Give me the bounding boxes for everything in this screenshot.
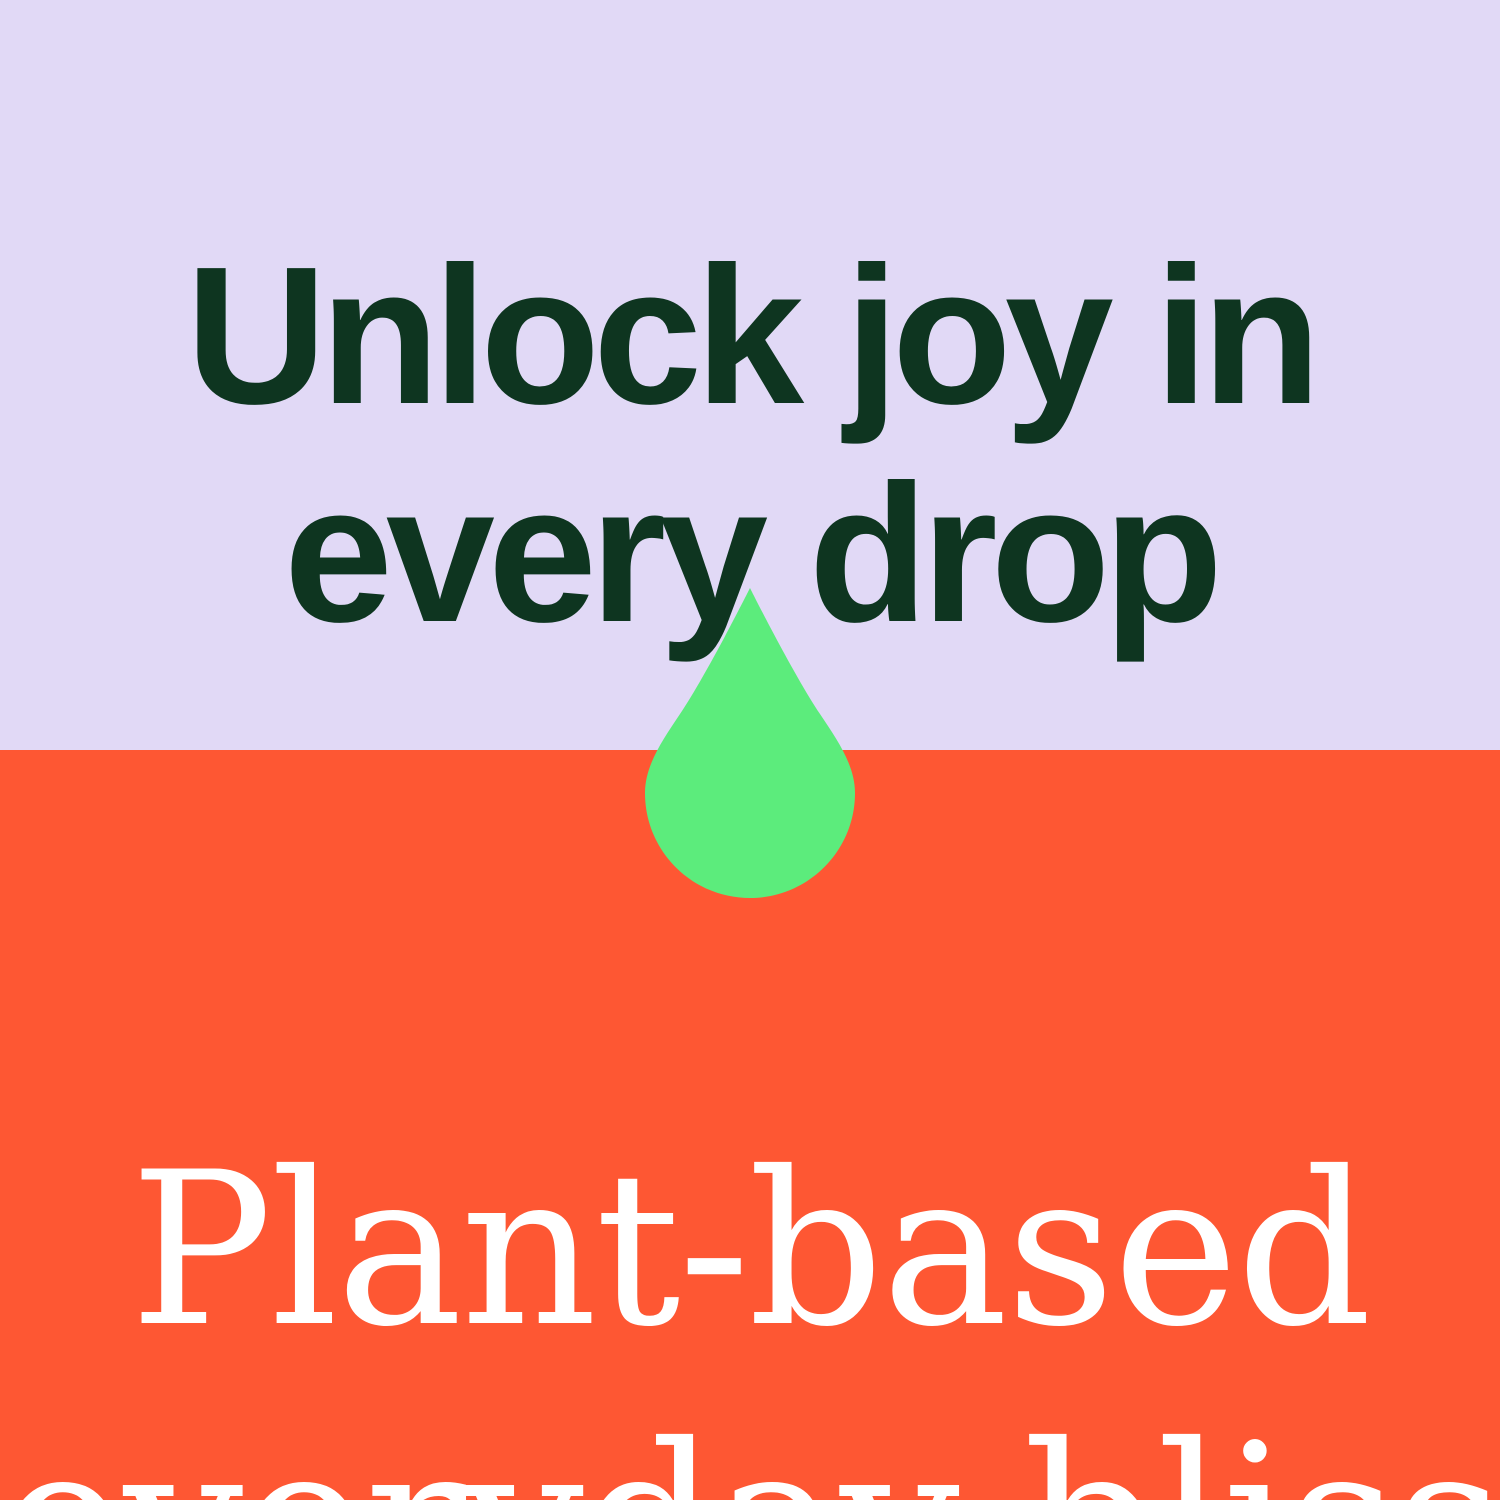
- subline-line-1: Plant-based: [0, 1114, 1500, 1386]
- promo-poster: Unlock joy in every drop Plant-based eve…: [0, 0, 1500, 1500]
- droplet-shape: [645, 588, 855, 898]
- headline-line-1: Unlock joy in: [0, 227, 1500, 445]
- water-droplet-icon: [645, 588, 855, 898]
- subline-line-2: everyday bliss: [0, 1386, 1500, 1500]
- water-droplet-graphic: [645, 588, 855, 898]
- subline: Plant-based everyday bliss: [0, 1114, 1500, 1500]
